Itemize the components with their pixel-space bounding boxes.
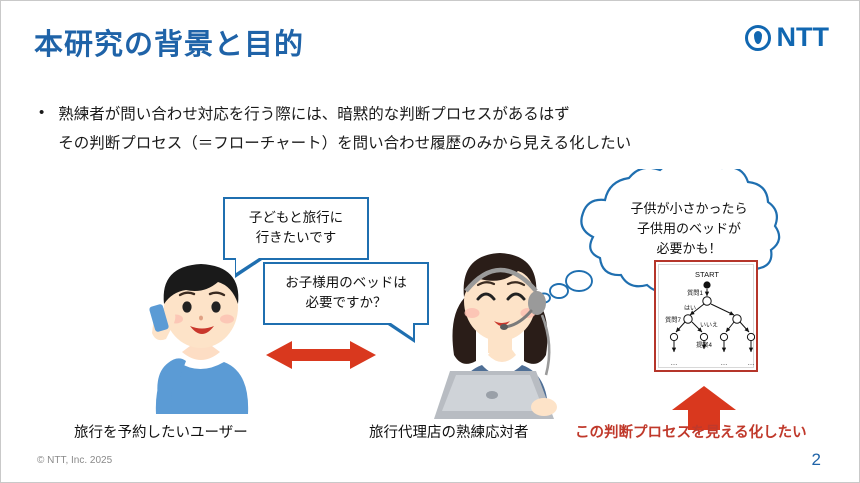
bullet-marker: • [39, 101, 44, 158]
bullet-block: • 熟練者が問い合わせ対応を行う際には、暗黙的な判断プロセスがあるはず その判断… [39, 101, 631, 158]
flow-label-ellipsis-2: … [721, 360, 728, 367]
flow-label-start: START [695, 270, 719, 279]
speech-bubble-agent-line-2: 必要ですか？ [275, 293, 417, 313]
thought-line-3: 必要かも！ [599, 239, 779, 259]
double-headed-arrow-icon [266, 338, 376, 372]
flowchart-thumbnail-box: START 質問1 はい 質問7 いいえ 提案4 … … … [654, 260, 758, 372]
slide-canvas: 本研究の背景と目的 NTT • 熟練者が問い合わせ対応を行う際には、暗黙的な判断… [0, 0, 860, 483]
thought-line-2: 子供用のベッドが [599, 219, 779, 239]
bullet-line-2: その判断プロセス（＝フローチャート）を問い合わせ履歴のみから見える化したい [58, 130, 631, 159]
thought-bubble-text: 子供が小さかったら 子供用のベッドが 必要かも！ [599, 199, 779, 259]
flowchart-graph: START 質問1 はい 質問7 いいえ 提案4 … … … [659, 265, 755, 369]
bullet-text: 熟練者が問い合わせ対応を行う際には、暗黙的な判断プロセスがあるはず その判断プロ… [58, 101, 631, 158]
flow-label-q7: 質問7 [665, 316, 681, 324]
ntt-circle-mark-icon [745, 25, 771, 51]
page-title: 本研究の背景と目的 [34, 21, 304, 63]
person-on-phone-illustration [126, 249, 276, 414]
caption-agent: 旅行代理店の熟練応対者 [369, 421, 529, 442]
flow-label-q1: 質問1 [687, 289, 703, 297]
footer-copyright: © NTT, Inc. 2025 [37, 455, 112, 466]
caption-user: 旅行を予約したいユーザー [74, 421, 248, 442]
speech-bubble-user-line-2: 行きたいです [235, 228, 357, 248]
ntt-logo: NTT [745, 24, 829, 51]
speech-bubble-agent-question: お子様用のベッドは 必要ですか？ [263, 262, 429, 325]
page-number: 2 [812, 450, 821, 470]
call-center-operator-illustration [416, 239, 601, 419]
speech-bubble-user-line-1: 子どもと旅行に [235, 208, 357, 228]
ntt-wordmark: NTT [777, 24, 829, 51]
caption-goal-highlight: この判断プロセスを見える化したい [575, 421, 807, 442]
flow-label-yes: はい [684, 305, 696, 312]
flow-label-ellipsis-1: … [671, 360, 678, 367]
flow-label-no: いいえ [700, 322, 718, 329]
flow-label-suggest4: 提案4 [696, 341, 712, 349]
thought-line-1: 子供が小さかったら [599, 199, 779, 219]
bullet-line-1: 熟練者が問い合わせ対応を行う際には、暗黙的な判断プロセスがあるはず [58, 101, 631, 130]
speech-tail-inner [391, 323, 413, 338]
speech-bubble-agent-line-1: お子様用のベッドは [275, 273, 417, 293]
flowchart-inner-frame: START 質問1 はい 質問7 いいえ 提案4 … … … [658, 264, 754, 368]
flow-label-ellipsis-3: … [748, 360, 755, 367]
